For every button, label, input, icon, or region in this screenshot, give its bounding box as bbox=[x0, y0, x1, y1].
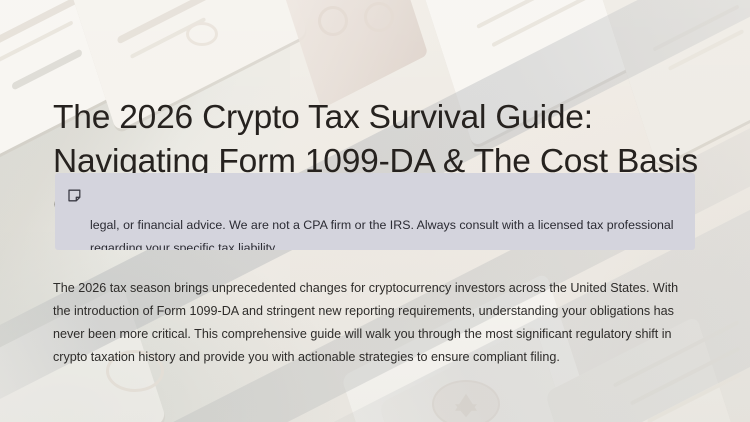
article-content: The 2026 Crypto Tax Survival Guide: Navi… bbox=[0, 0, 750, 422]
intro-paragraph: The 2026 tax season brings unprecedented… bbox=[53, 277, 690, 369]
note-icon bbox=[68, 189, 81, 202]
disclaimer-text: legal, or financial advice. We are not a… bbox=[90, 214, 682, 250]
article-hero-page: The 2026 Crypto Tax Survival Guide: Navi… bbox=[0, 0, 750, 422]
disclaimer-callout: legal, or financial advice. We are not a… bbox=[55, 173, 695, 250]
